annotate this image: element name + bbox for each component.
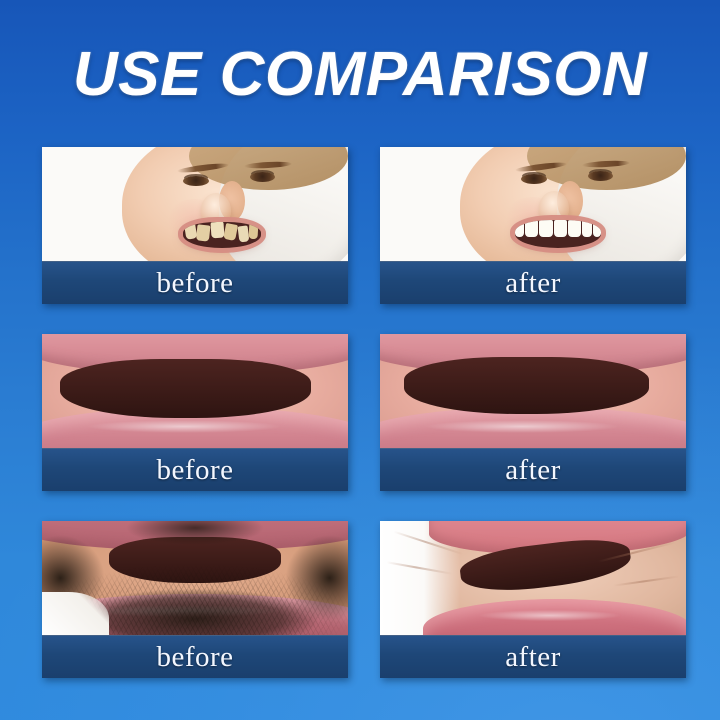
comparison-grid: before — [42, 147, 686, 678]
label-row1-after: after — [380, 261, 686, 304]
comparison-card-row3-before[interactable]: before — [42, 521, 348, 678]
label-row2-before: before — [42, 448, 348, 491]
label-row1-before: before — [42, 261, 348, 304]
comparison-card-row2-after[interactable]: after — [380, 334, 686, 491]
label-row3-before: before — [42, 635, 348, 678]
comparison-card-row2-before[interactable]: before — [42, 334, 348, 491]
photo-row3-after — [380, 521, 686, 635]
photo-row2-before — [42, 334, 348, 448]
photo-row1-after — [380, 147, 686, 261]
comparison-card-row1-after[interactable]: after — [380, 147, 686, 304]
photo-row2-after — [380, 334, 686, 448]
label-row3-after: after — [380, 635, 686, 678]
photo-row1-before — [42, 147, 348, 261]
comparison-card-row1-before[interactable]: before — [42, 147, 348, 304]
comparison-card-row3-after[interactable]: after — [380, 521, 686, 678]
use-comparison-poster: USE COMPARISON — [0, 0, 720, 720]
label-row2-after: after — [380, 448, 686, 491]
page-title: USE COMPARISON — [0, 44, 720, 106]
photo-row3-before — [42, 521, 348, 635]
